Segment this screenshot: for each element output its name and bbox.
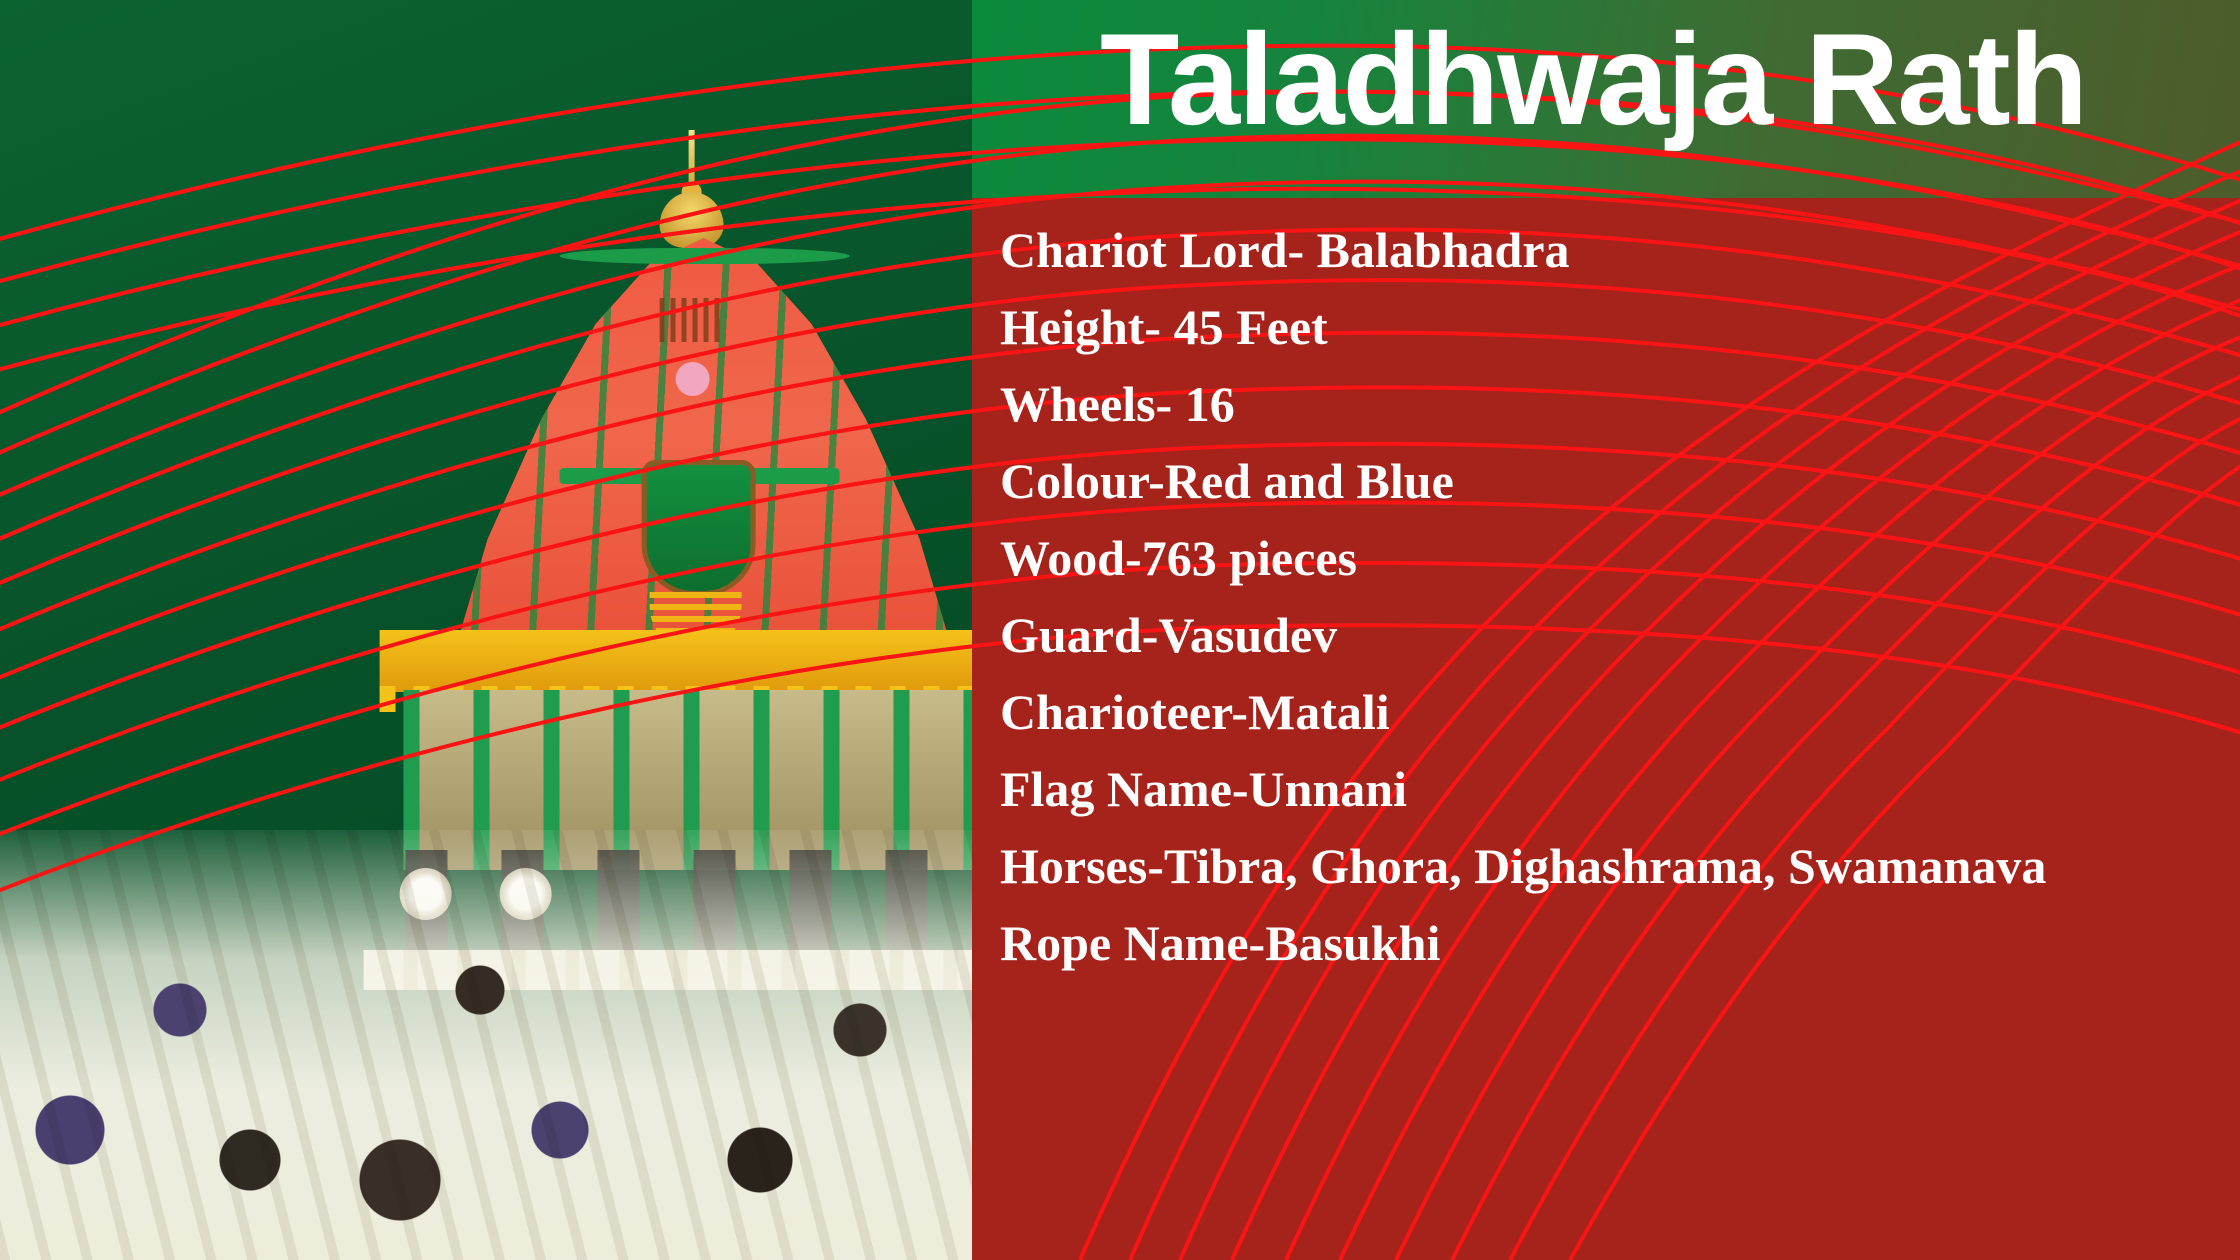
list-item: Rope Name-Basukhi <box>1000 905 2200 982</box>
list-item: Chariot Lord- Balabhadra <box>1000 212 2200 289</box>
canopy-green-band <box>560 248 850 264</box>
list-item: Guard-Vasudev <box>1000 597 2200 674</box>
chariot-deck-valance <box>380 630 972 692</box>
chariot-photo-panel <box>0 0 972 1260</box>
page-title: Taladhwaja Rath <box>1100 14 2086 144</box>
canopy-emblem-icon <box>660 298 726 342</box>
list-item: Wood-763 pieces <box>1000 520 2200 597</box>
list-item: Colour-Red and Blue <box>1000 443 2200 520</box>
info-panel-text-layer: Taladhwaja Rath Chariot Lord- Balabhadra… <box>972 0 2240 1260</box>
chariot-green-shield <box>642 460 756 596</box>
crowd-texture-overlay <box>0 830 972 1260</box>
canopy-medallion-icon <box>676 362 710 396</box>
chariot-kalasa-icon <box>660 192 724 248</box>
list-item: Charioteer-Matali <box>1000 674 2200 751</box>
list-item: Flag Name-Unnani <box>1000 751 2200 828</box>
chariot-details-list: Chariot Lord- Balabhadra Height- 45 Feet… <box>1000 212 2200 982</box>
presentation-slide: Taladhwaja Rath Chariot Lord- Balabhadra… <box>0 0 2240 1260</box>
list-item: Wheels- 16 <box>1000 366 2200 443</box>
rath-chariot-illustration <box>364 130 972 770</box>
list-item: Horses-Tibra, Ghora, Dighashrama, Swaman… <box>1000 828 2200 905</box>
chariot-finial-icon <box>689 130 695 200</box>
list-item: Height- 45 Feet <box>1000 289 2200 366</box>
